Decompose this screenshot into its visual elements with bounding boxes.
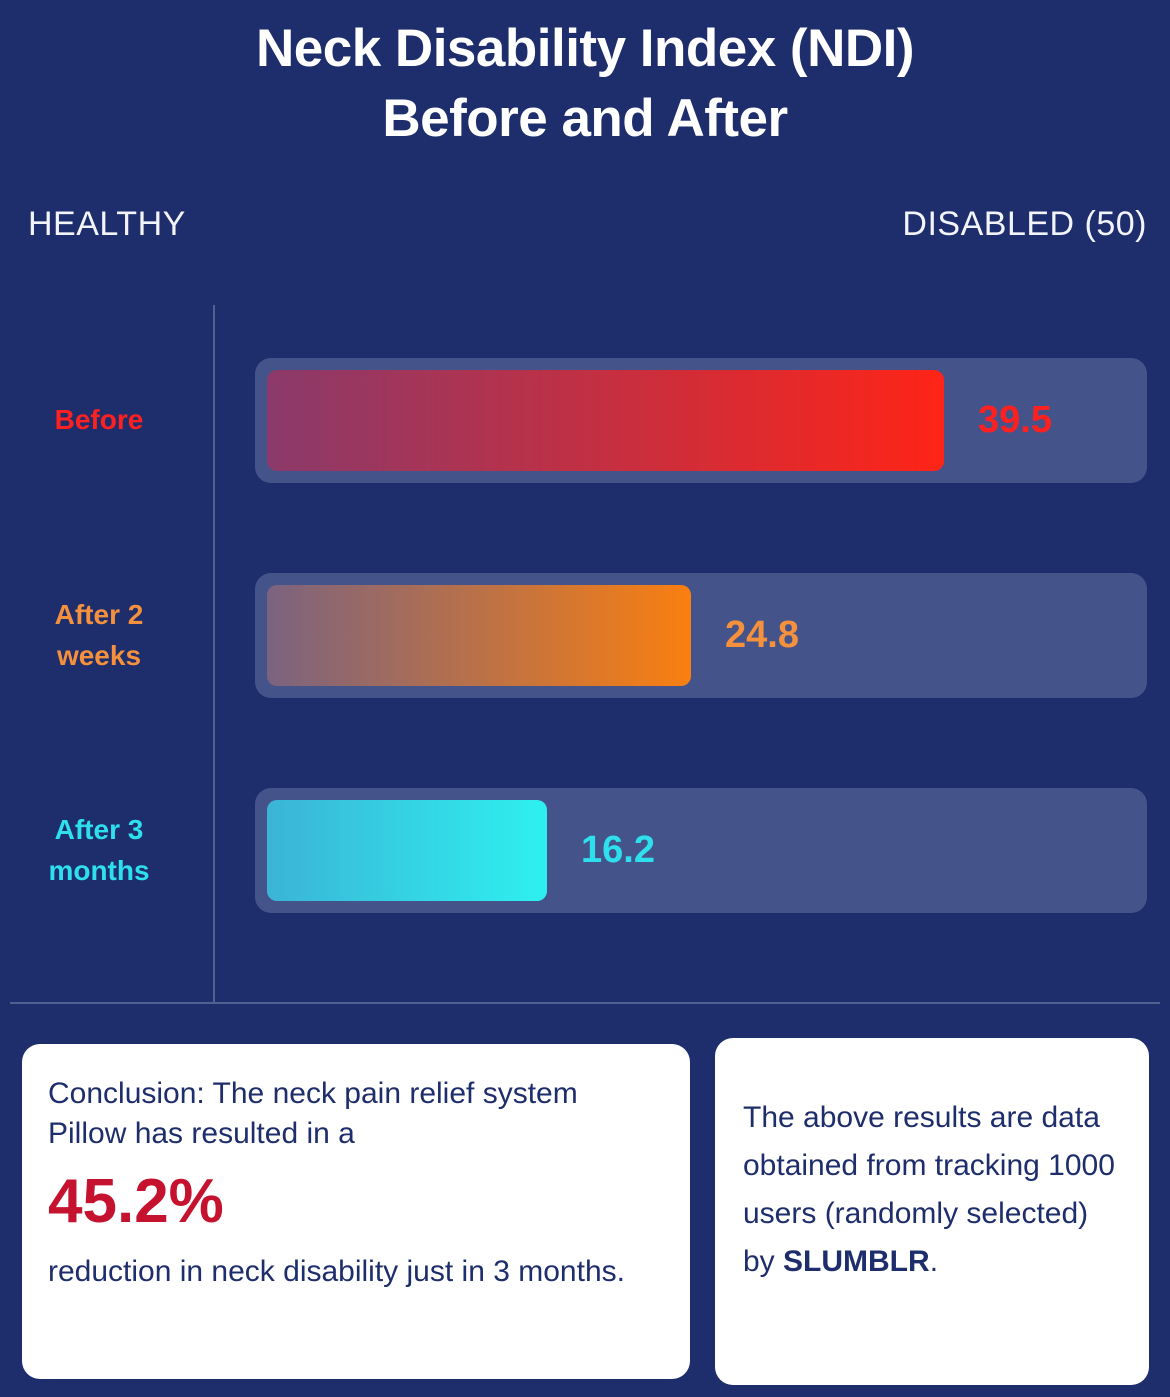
bar-track: 16.2 xyxy=(255,788,1147,913)
bar-value-after-2-weeks: 24.8 xyxy=(725,573,799,698)
section-divider xyxy=(10,1002,1160,1004)
bar-fill-before xyxy=(267,370,944,471)
page-title: Neck Disability Index (NDI) Before and A… xyxy=(0,14,1170,155)
bar-label-line-2: weeks xyxy=(57,640,141,671)
brand-name: SLUMBLR xyxy=(783,1245,930,1278)
bar-fill-after-3-months xyxy=(267,800,547,901)
title-line-2: Before and After xyxy=(0,84,1170,154)
bar-chart: Before 39.5 After 2 weeks 24.8 xyxy=(0,305,1170,1005)
bar-value-after-3-months: 16.2 xyxy=(581,788,655,913)
axis-min-label: HEALTHY xyxy=(28,205,186,244)
conclusion-intro-text: Conclusion: The neck pain relief system … xyxy=(48,1074,664,1154)
bar-label-before: Before xyxy=(0,358,198,483)
conclusion-card: Conclusion: The neck pain relief system … xyxy=(22,1044,690,1379)
bar-track: 24.8 xyxy=(255,573,1147,698)
title-line-1: Neck Disability Index (NDI) xyxy=(0,14,1170,84)
infographic-root: Neck Disability Index (NDI) Before and A… xyxy=(0,0,1170,1397)
bar-track: 39.5 xyxy=(255,358,1147,483)
data-source-card: The above results are data obtained from… xyxy=(715,1038,1149,1385)
chart-axis-line xyxy=(213,305,215,1003)
bar-label-line-2: months xyxy=(48,855,149,886)
bar-fill-after-2-weeks xyxy=(267,585,691,686)
conclusion-highlight-value: 45.2% xyxy=(48,1168,664,1236)
bar-label-line-1: Before xyxy=(55,404,144,435)
data-source-text-after: . xyxy=(930,1245,938,1278)
bar-label-after-3-months: After 3 months xyxy=(0,788,198,913)
data-source-text: The above results are data obtained from… xyxy=(743,1094,1121,1286)
bar-label-line-1: After 2 xyxy=(55,599,144,630)
conclusion-outro-text: reduction in neck disability just in 3 m… xyxy=(48,1252,664,1292)
bar-label-line-1: After 3 xyxy=(55,814,144,845)
bar-value-before: 39.5 xyxy=(978,358,1052,483)
axis-max-label: DISABLED (50) xyxy=(902,205,1147,244)
bar-label-after-2-weeks: After 2 weeks xyxy=(0,573,198,698)
